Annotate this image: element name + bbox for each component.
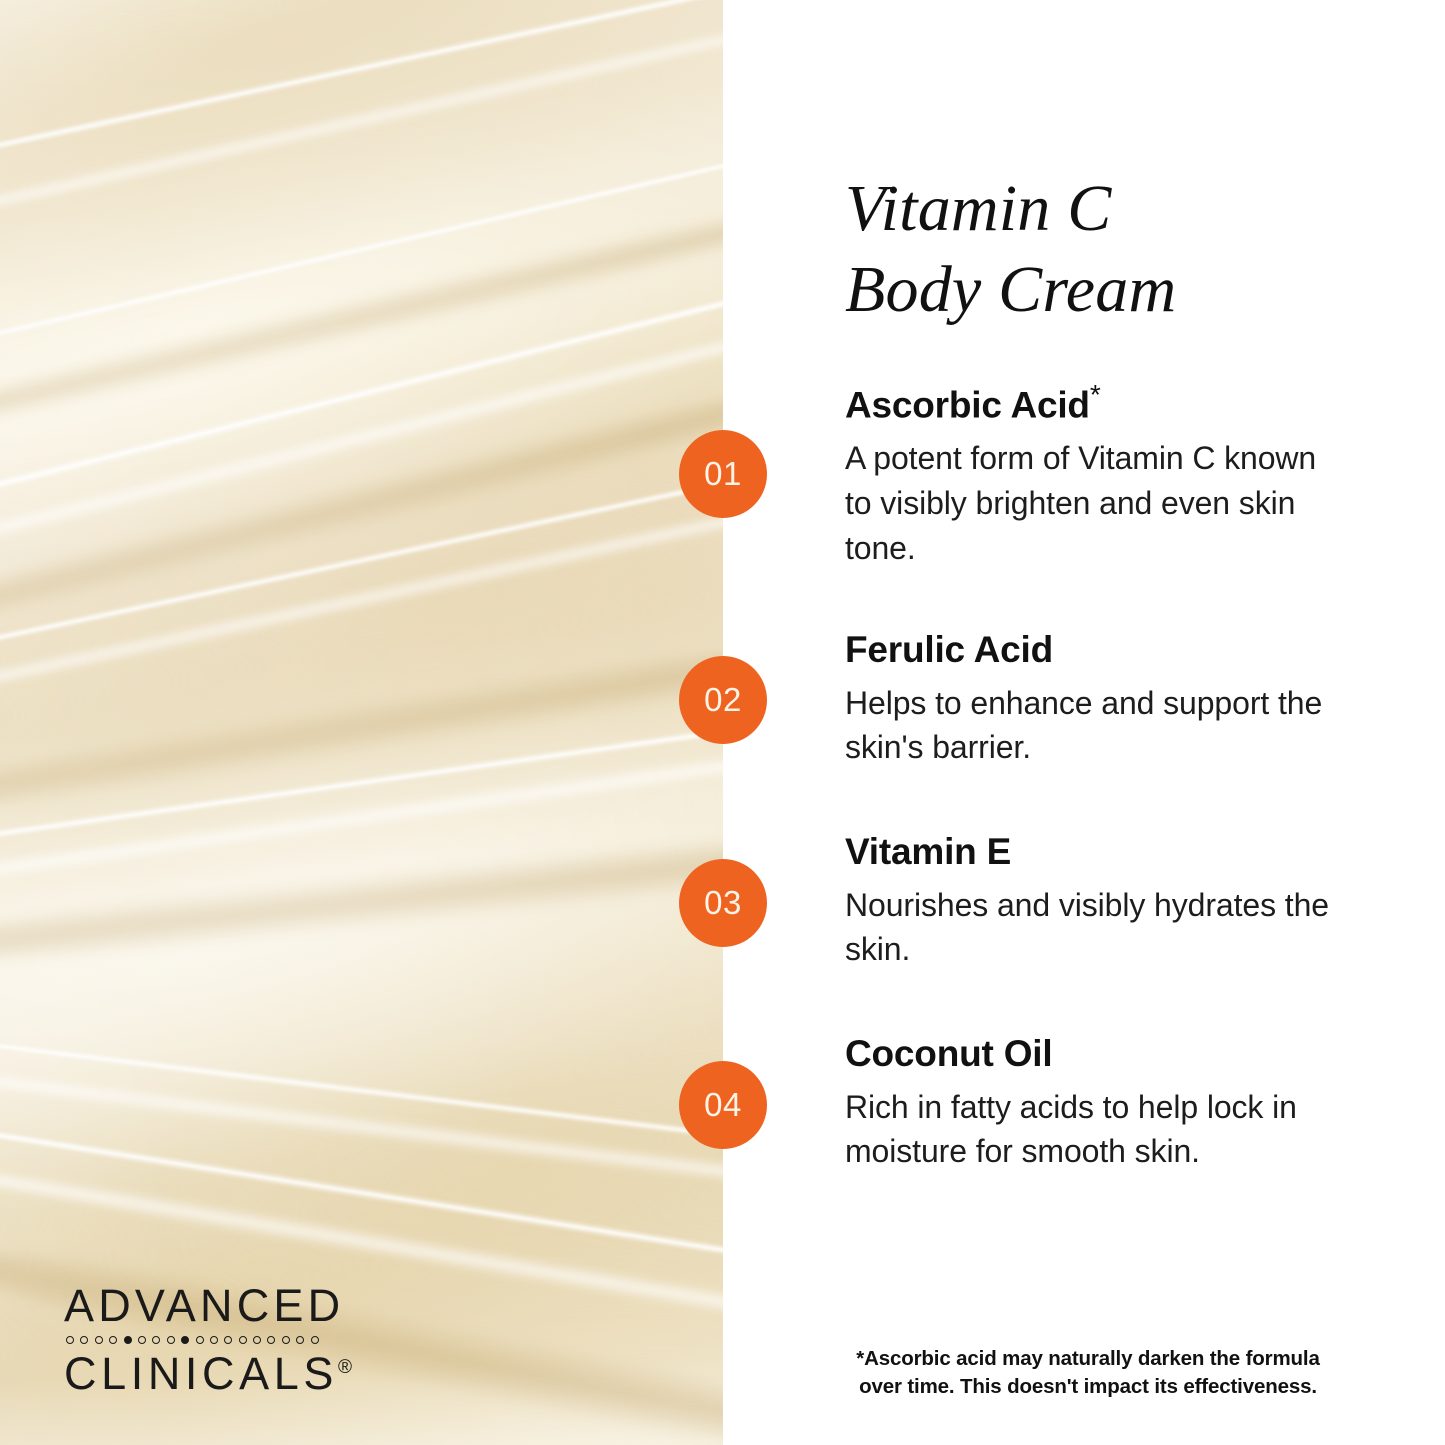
ingredient-item-03: Vitamin E Nourishes and visibly hydrates… <box>845 830 1345 972</box>
ingredient-badge-02: 02 <box>679 656 767 744</box>
ingredient-item-01: Ascorbic Acid* A potent form of Vitamin … <box>845 378 1345 570</box>
ingredient-description-01: A potent form of Vitamin C known to visi… <box>845 436 1345 570</box>
footnote-asterisk-marker: * <box>1090 379 1101 410</box>
logo-dot-filled <box>181 1336 189 1344</box>
logo-dot-open <box>210 1336 218 1344</box>
footnote-line-2: over time. This doesn't impact its effec… <box>823 1373 1353 1401</box>
ingredient-item-04: Coconut Oil Rich in fatty acids to help … <box>845 1032 1345 1174</box>
ingredient-description-04: Rich in fatty acids to help lock in mois… <box>845 1085 1345 1175</box>
logo-dot-open <box>311 1336 319 1344</box>
logo-dot-row <box>66 1336 352 1344</box>
ingredient-item-02: Ferulic Acid Helps to enhance and suppor… <box>845 628 1345 770</box>
logo-dot-open <box>253 1336 261 1344</box>
logo-dot-open <box>239 1336 247 1344</box>
ingredient-badge-04: 04 <box>679 1061 767 1149</box>
registered-trademark-icon: ® <box>338 1357 352 1378</box>
product-title-line-1: Vitamin C <box>845 168 1405 249</box>
logo-dot-open <box>282 1336 290 1344</box>
content-panel: Vitamin C Body Cream Ascorbic Acid* A po… <box>723 0 1445 1445</box>
ingredient-badge-03: 03 <box>679 859 767 947</box>
logo-dot-open <box>296 1336 304 1344</box>
ingredient-heading-text-03: Vitamin E <box>845 831 1011 872</box>
footnote-line-1: *Ascorbic acid may naturally darken the … <box>823 1345 1353 1373</box>
logo-word-advanced: ADVANCED <box>64 1283 352 1329</box>
brand-logo: ADVANCED CLINICALS® <box>64 1283 352 1397</box>
ingredient-badge-01: 01 <box>679 430 767 518</box>
logo-dot-open <box>66 1336 74 1344</box>
logo-dot-filled <box>124 1336 132 1344</box>
logo-dot-open <box>196 1336 204 1344</box>
ingredient-badge-label-02: 02 <box>704 681 742 719</box>
logo-dot-open <box>167 1336 175 1344</box>
logo-dot-open <box>95 1336 103 1344</box>
ingredient-heading-text-04: Coconut Oil <box>845 1033 1052 1074</box>
ingredient-heading-03: Vitamin E <box>845 830 1345 874</box>
ingredient-heading-04: Coconut Oil <box>845 1032 1345 1076</box>
logo-dot-open <box>152 1336 160 1344</box>
logo-dot-open <box>138 1336 146 1344</box>
logo-dot-open <box>109 1336 117 1344</box>
logo-word-clinicals-text: CLINICALS <box>64 1348 338 1399</box>
ingredient-badge-label-04: 04 <box>704 1086 742 1124</box>
ingredient-heading-text-01: Ascorbic Acid <box>845 384 1090 425</box>
logo-dot-open <box>80 1336 88 1344</box>
ingredient-heading-text-02: Ferulic Acid <box>845 629 1053 670</box>
ingredient-heading-01: Ascorbic Acid* <box>845 378 1345 427</box>
ingredient-description-02: Helps to enhance and support the skin's … <box>845 681 1345 771</box>
ingredient-badge-label-01: 01 <box>704 455 742 493</box>
product-ingredient-infographic: ADVANCED CLINICALS® Vitamin C Body Cream… <box>0 0 1445 1445</box>
ingredient-description-03: Nourishes and visibly hydrates the skin. <box>845 883 1345 973</box>
ingredient-badge-label-03: 03 <box>704 884 742 922</box>
product-title: Vitamin C Body Cream <box>845 168 1405 330</box>
ingredient-heading-02: Ferulic Acid <box>845 628 1345 672</box>
logo-word-clinicals: CLINICALS® <box>64 1351 352 1397</box>
logo-dot-open <box>267 1336 275 1344</box>
cream-texture-photo <box>0 0 723 1445</box>
footnote-disclaimer: *Ascorbic acid may naturally darken the … <box>823 1345 1353 1402</box>
product-title-line-2: Body Cream <box>845 249 1405 330</box>
logo-dot-open <box>224 1336 232 1344</box>
